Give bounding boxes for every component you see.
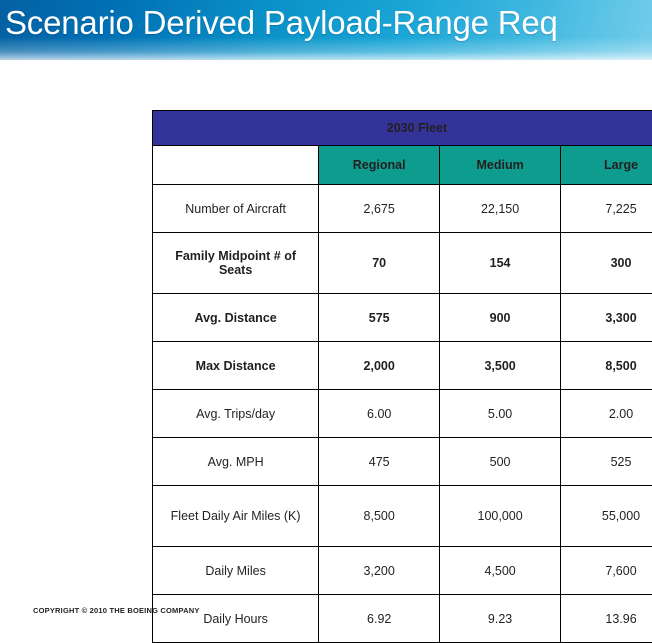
row-label: Avg. Distance bbox=[153, 294, 319, 342]
table-cell: 2,675 bbox=[319, 185, 440, 233]
table-row: Avg. MPH475500525 bbox=[153, 438, 652, 486]
table-cell: 9.23 bbox=[440, 595, 561, 643]
table-row: Daily Hours6.929.2313.96 bbox=[153, 595, 652, 643]
row-label: Fleet Daily Air Miles (K) bbox=[153, 486, 319, 547]
copyright-notice: COPYRIGHT © 2010 THE BOEING COMPANY bbox=[33, 606, 200, 615]
table-cell: 3,300 bbox=[561, 294, 652, 342]
table-cell: 575 bbox=[319, 294, 440, 342]
fleet-requirements-table: 2030 FleetRegionalMediumLargeNumber of A… bbox=[152, 110, 652, 643]
table-cell: 500 bbox=[440, 438, 561, 486]
table-cell: 22,150 bbox=[440, 185, 561, 233]
table-cell: 8,500 bbox=[319, 486, 440, 547]
table-cell: 475 bbox=[319, 438, 440, 486]
table-cell: 154 bbox=[440, 233, 561, 294]
table-cell: 900 bbox=[440, 294, 561, 342]
table-row: Number of Aircraft2,67522,1507,225 bbox=[153, 185, 652, 233]
table-cell: 3,500 bbox=[440, 342, 561, 390]
table-cell: 3,200 bbox=[319, 547, 440, 595]
table-corner-cell bbox=[153, 146, 319, 185]
table-row: Fleet Daily Air Miles (K)8,500100,00055,… bbox=[153, 486, 652, 547]
table-row: Max Distance2,0003,5008,500 bbox=[153, 342, 652, 390]
page-title: Scenario Derived Payload-Range Req bbox=[5, 1, 558, 45]
table-row: Avg. Trips/day6.005.002.00 bbox=[153, 390, 652, 438]
column-header-regional: Regional bbox=[319, 146, 440, 185]
table-cell: 4,500 bbox=[440, 547, 561, 595]
table-row: Avg. Distance5759003,300 bbox=[153, 294, 652, 342]
table-cell: 70 bbox=[319, 233, 440, 294]
column-header-large: Large bbox=[561, 146, 652, 185]
table-title-row: 2030 Fleet bbox=[153, 111, 652, 146]
table-cell: 8,500 bbox=[561, 342, 652, 390]
table-cell: 300 bbox=[561, 233, 652, 294]
row-label: Daily Miles bbox=[153, 547, 319, 595]
row-label: Avg. Trips/day bbox=[153, 390, 319, 438]
table-cell: 55,000 bbox=[561, 486, 652, 547]
table-row: Family Midpoint # of Seats70154300 bbox=[153, 233, 652, 294]
table-cell: 525 bbox=[561, 438, 652, 486]
row-label: Avg. MPH bbox=[153, 438, 319, 486]
slide-title-banner: Scenario Derived Payload-Range Req bbox=[0, 0, 652, 60]
table-cell: 13.96 bbox=[561, 595, 652, 643]
table-cell: 5.00 bbox=[440, 390, 561, 438]
table-cell: 7,225 bbox=[561, 185, 652, 233]
row-label: Daily Hours bbox=[153, 595, 319, 643]
table-row: Daily Miles3,2004,5007,600 bbox=[153, 547, 652, 595]
table-cell: 100,000 bbox=[440, 486, 561, 547]
table-title-cell: 2030 Fleet bbox=[153, 111, 652, 146]
table-cell: 2,000 bbox=[319, 342, 440, 390]
table-cell: 6.00 bbox=[319, 390, 440, 438]
table-cell: 7,600 bbox=[561, 547, 652, 595]
column-header-medium: Medium bbox=[440, 146, 561, 185]
table-cell: 6.92 bbox=[319, 595, 440, 643]
row-label: Max Distance bbox=[153, 342, 319, 390]
table-cell: 2.00 bbox=[561, 390, 652, 438]
table-header-row: RegionalMediumLarge bbox=[153, 146, 652, 185]
row-label: Number of Aircraft bbox=[153, 185, 319, 233]
row-label: Family Midpoint # of Seats bbox=[153, 233, 319, 294]
